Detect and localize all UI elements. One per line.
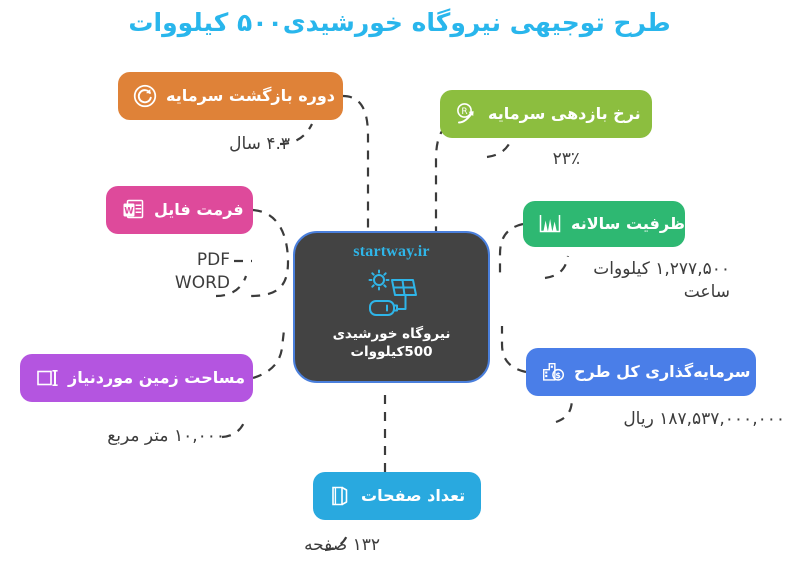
node-value-page-count: ۱۳۲ صفحه (250, 534, 380, 557)
brand-label: startway.ir (353, 243, 429, 261)
land-area-icon (34, 365, 60, 391)
open-book-icon (327, 483, 353, 509)
center-card[interactable]: startway.ir (293, 231, 490, 383)
node-badge-roi[interactable]: R نرخ بازدهی سرمایه (440, 90, 652, 138)
node-value-payback: ۴.۳ سال (160, 133, 290, 156)
node-badge-payback[interactable]: دوره بازگشت سرمایه (118, 72, 343, 120)
node-value-file-format: PDF WORD (120, 249, 230, 295)
svg-text:$: $ (555, 371, 560, 380)
node-value-land-area: ۱۰,۰۰۰ متر مربع (55, 425, 225, 448)
node-value-annual-capacity: ۱,۲۷۷,۵۰۰ کیلووات ساعت (530, 258, 730, 304)
power-plant-icon (537, 211, 563, 237)
center-caption: نیروگاه خورشیدی 500کیلووات (333, 325, 451, 361)
leader-land (222, 417, 246, 437)
node-badge-file-format[interactable]: W فرمت فایل (106, 186, 253, 234)
node-badge-annual-capacity[interactable]: ظرفیت سالانه (523, 201, 685, 247)
node-badge-land-area[interactable]: مساحت زمین موردنیاز (20, 354, 253, 402)
connector-capacity (500, 224, 523, 276)
return-rate-arrow-icon: R (454, 101, 480, 127)
node-value-total-investment: ۱۸۷,۵۳۷,۰۰۰,۰۰۰ ریال (520, 408, 785, 431)
connector-payback (343, 96, 368, 232)
node-badge-total-investment[interactable]: $ سرمایه‌گذاری کل طرح (526, 348, 756, 396)
word-document-icon: W (120, 197, 146, 223)
node-label-roi: نرخ بازدهی سرمایه (488, 104, 641, 123)
connector-land (253, 330, 284, 378)
node-badge-page-count[interactable]: تعداد صفحات (313, 472, 481, 520)
svg-text:R: R (461, 106, 467, 116)
node-label-file-format: فرمت فایل (154, 200, 244, 219)
node-label-payback: دوره بازگشت سرمایه (166, 86, 335, 105)
refresh-circle-icon (132, 83, 158, 109)
building-money-icon: $ (540, 359, 566, 385)
connector-investment (502, 326, 526, 372)
infographic-canvas: طرح توجیهی نیروگاه خورشیدی۵۰۰ کیلووات دو… (0, 0, 799, 569)
connector-file-format (250, 210, 288, 296)
node-label-land-area: مساحت زمین موردنیاز (68, 368, 245, 387)
node-label-page-count: تعداد صفحات (361, 486, 465, 505)
node-label-annual-capacity: ظرفیت سالانه (571, 214, 685, 233)
page-title: طرح توجیهی نیروگاه خورشیدی۵۰۰ کیلووات (0, 8, 799, 37)
solar-panel-sun-icon (361, 267, 423, 319)
node-value-roi: ۲۳٪ (470, 148, 580, 171)
node-label-total-investment: سرمایه‌گذاری کل طرح (574, 362, 751, 381)
svg-text:W: W (124, 206, 134, 216)
